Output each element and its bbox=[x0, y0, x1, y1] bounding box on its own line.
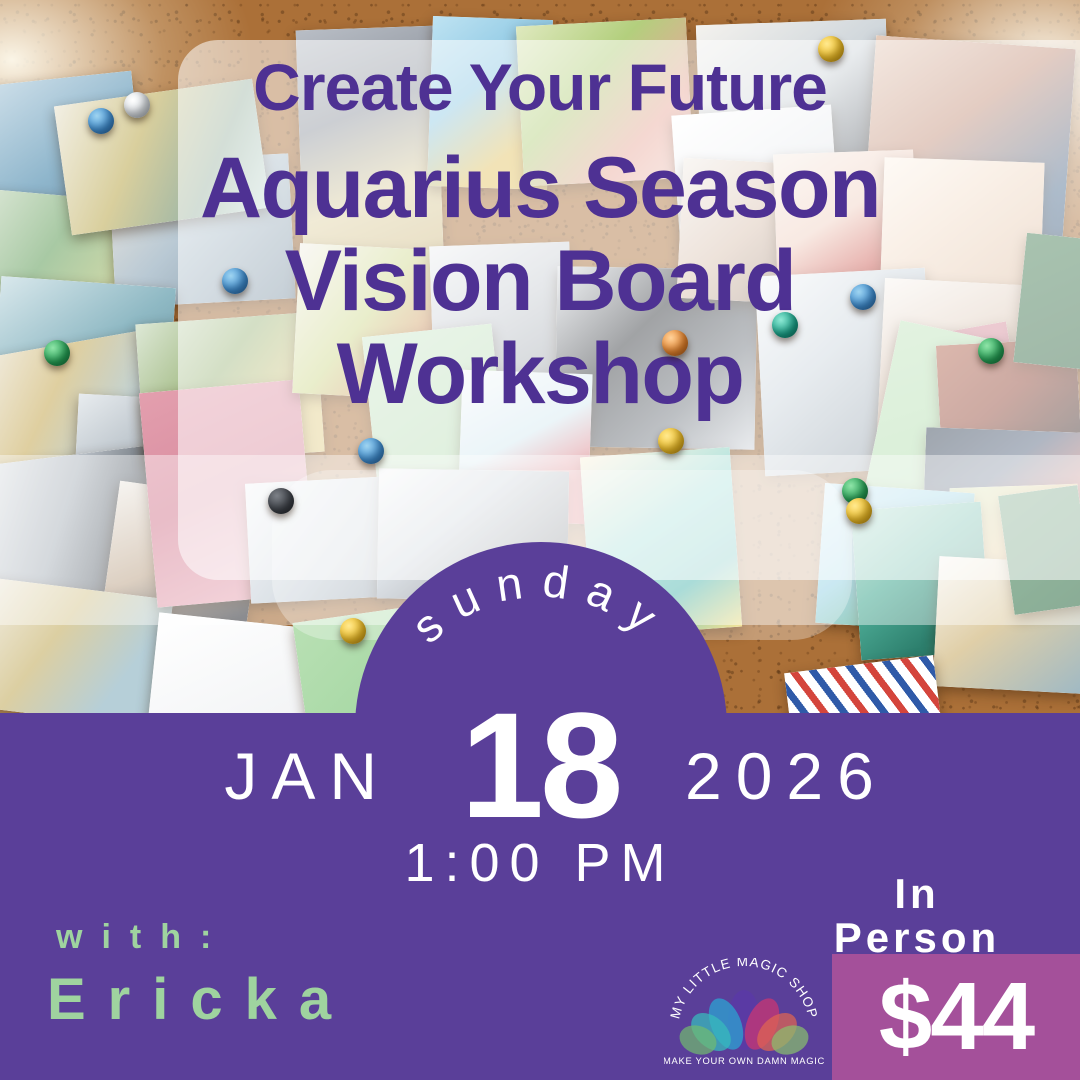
pushpin-yellow-top bbox=[818, 36, 844, 62]
kicker-text: Create Your Future bbox=[0, 54, 1080, 120]
svg-text:sunday: sunday bbox=[402, 554, 680, 653]
event-title: Aquarius Season Vision Board Workshop bbox=[0, 142, 1080, 421]
logo-tagline: MAKE YOUR OWN DAMN MAGIC bbox=[664, 1055, 824, 1066]
format-line-2: Person bbox=[782, 916, 1052, 960]
title-line-2: Vision Board bbox=[0, 235, 1080, 328]
price-amount: $44 bbox=[832, 954, 1080, 1080]
pushpin-teal-mid bbox=[772, 312, 798, 338]
pushpin-orange-mid bbox=[662, 330, 688, 356]
day-number: 18 bbox=[0, 690, 1080, 840]
pushpin-white-top bbox=[124, 92, 150, 118]
pushpin-blue-mid bbox=[222, 268, 248, 294]
title-line-1: Aquarius Season bbox=[0, 142, 1080, 235]
pushpin-darkgray-left bbox=[268, 488, 294, 514]
pushpin-yellow-right bbox=[846, 498, 872, 524]
format-line-1: In bbox=[782, 872, 1052, 916]
pushpin-blue-center bbox=[358, 438, 384, 464]
pushpin-blue-right bbox=[850, 284, 876, 310]
headline-block: Create Your Future Aquarius Season Visio… bbox=[0, 54, 1080, 421]
title-line-3: Workshop bbox=[0, 328, 1080, 421]
event-flyer: Create Your Future Aquarius Season Visio… bbox=[0, 0, 1080, 1080]
pushpin-yellow-center bbox=[658, 428, 684, 454]
pushpin-green-left bbox=[44, 340, 70, 366]
pushpin-green-right bbox=[978, 338, 1004, 364]
brand-logo: MY LITTLE MAGIC SHOP MAKE YOUR OWN DAMN … bbox=[664, 958, 824, 1070]
lotus-flower-icon bbox=[675, 990, 812, 1060]
weekday-text: sunday bbox=[402, 554, 680, 653]
format-badge: In Person bbox=[782, 872, 1052, 959]
pushpin-blue-topleft bbox=[88, 108, 114, 134]
presenter-label: with: bbox=[56, 918, 230, 957]
price-box: $44 bbox=[832, 954, 1080, 1080]
presenter-name: Ericka bbox=[47, 966, 353, 1033]
